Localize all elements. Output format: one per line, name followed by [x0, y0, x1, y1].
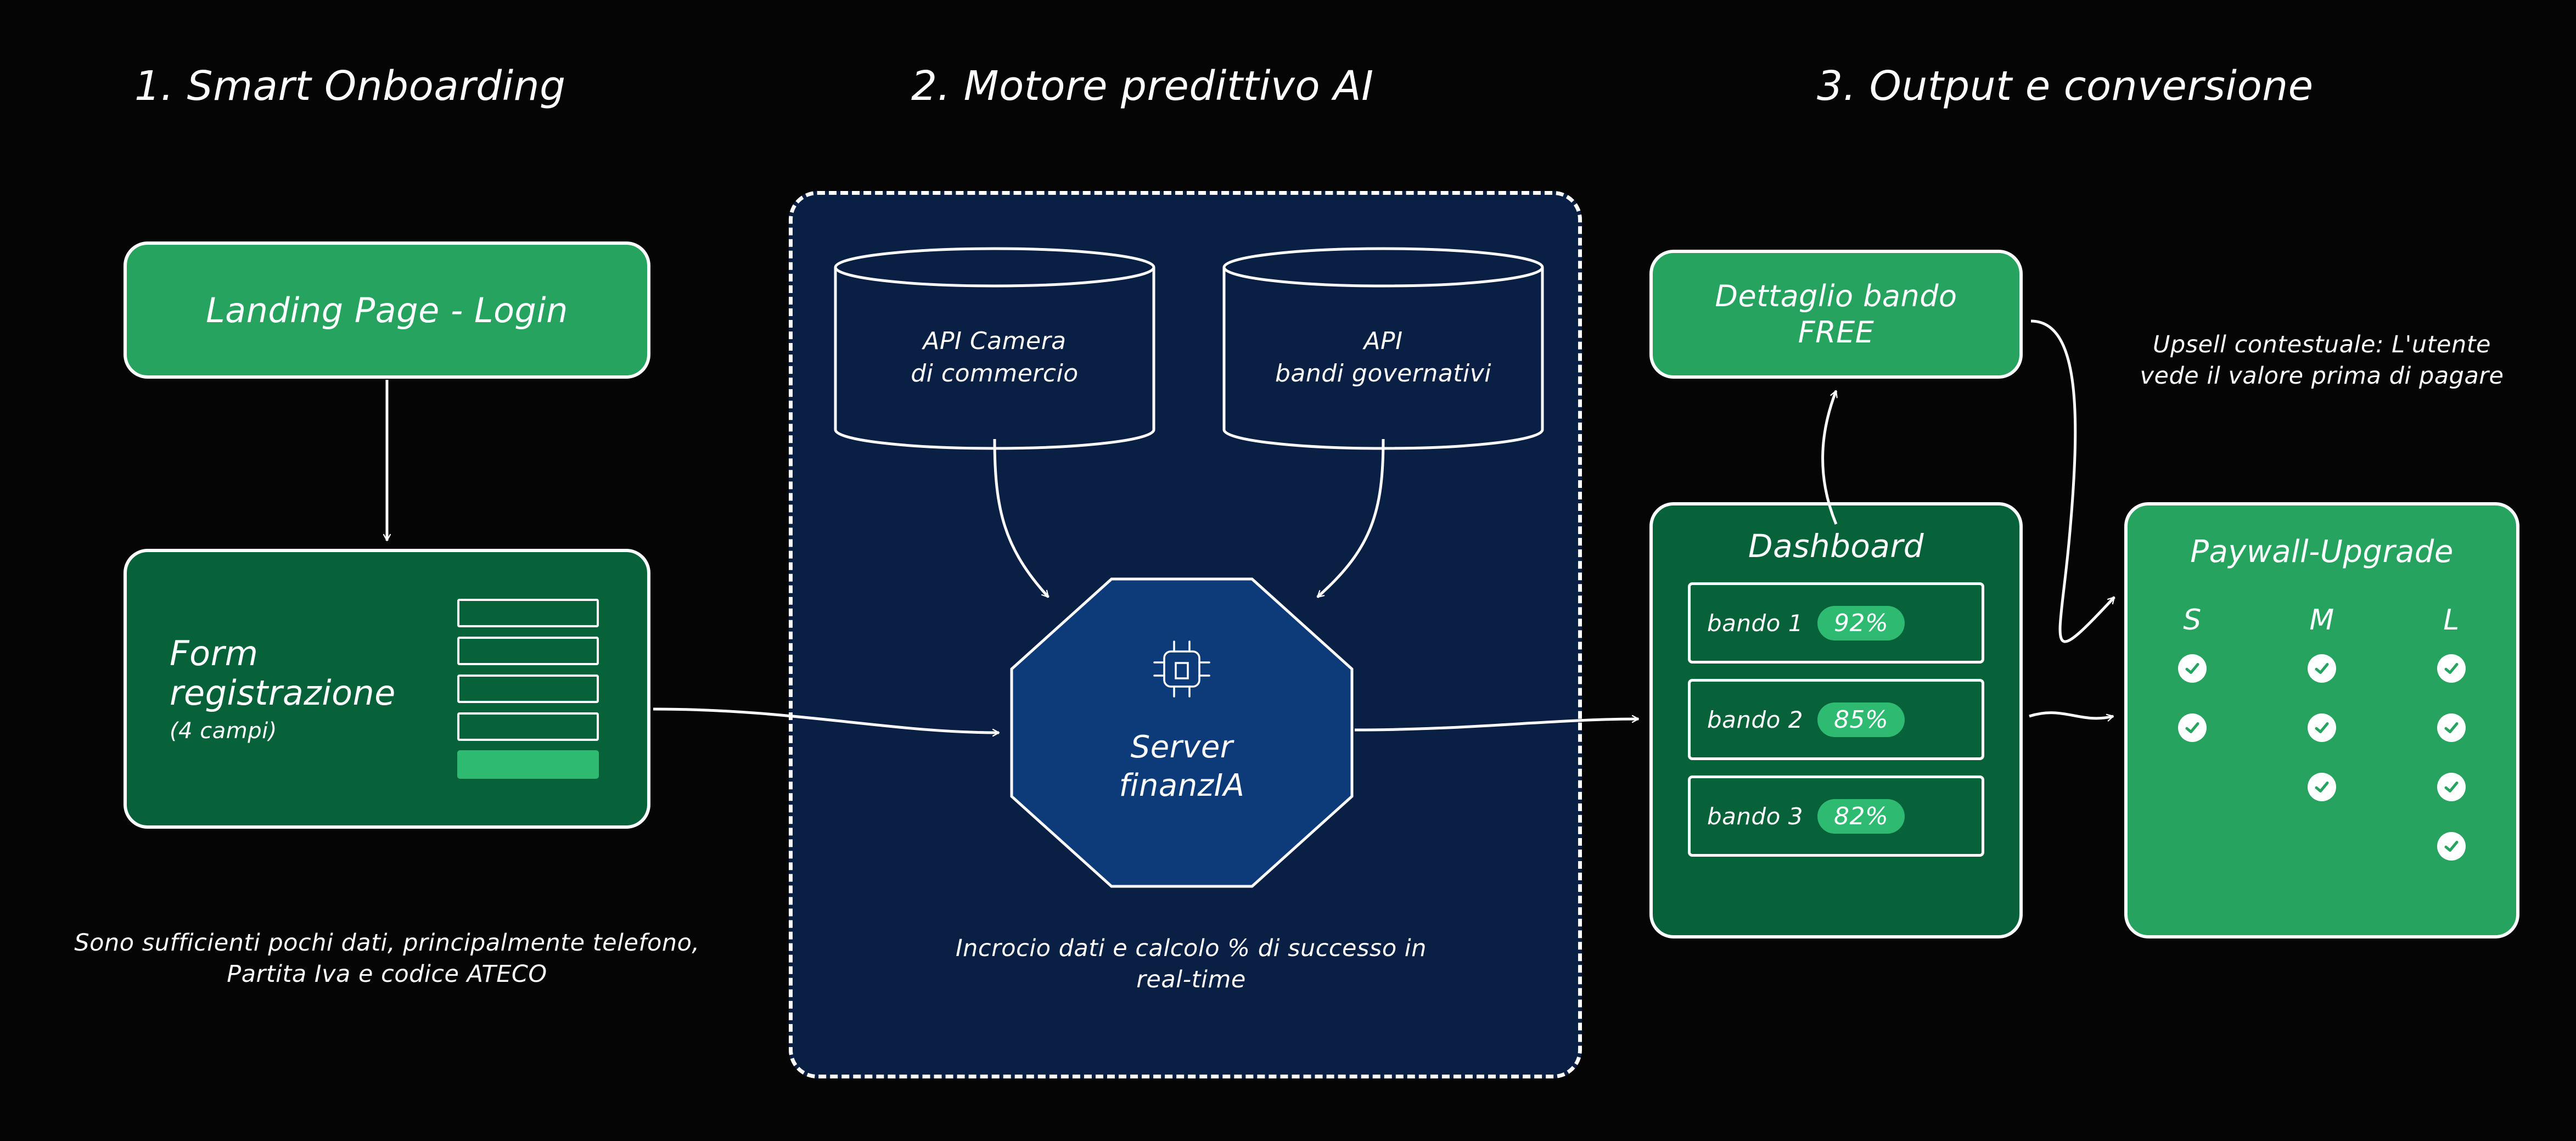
paywall-upgrade-card[interactable]: Paywall-Upgrade S M: [2124, 502, 2519, 938]
heading-step-2: 2. Motore predittivo AI: [911, 66, 1374, 106]
arrow-dashboard-to-paywall: [2029, 713, 2113, 718]
check-circle-icon: [2437, 773, 2466, 801]
form-labels: Form registrazione (4 campi): [170, 634, 455, 744]
form-submit-button[interactable]: [457, 750, 599, 779]
tier-columns: S M L: [2128, 604, 2516, 891]
tier-s[interactable]: S: [2128, 604, 2257, 891]
dettaglio-line2: FREE: [1798, 314, 1875, 351]
diagram-canvas: 1. Smart Onboarding 2. Motore predittivo…: [0, 0, 2576, 1141]
check-circle-icon: [2178, 654, 2207, 683]
tier-label: M: [2309, 604, 2334, 637]
api-bandi-line2: bandi governativi: [1275, 359, 1491, 387]
check-circle-icon: [2308, 773, 2336, 801]
check-circle-icon: [2437, 654, 2466, 683]
table-row[interactable]: bando 1 92%: [1688, 582, 1984, 664]
check-circle-icon: [2437, 832, 2466, 861]
landing-page-label: Landing Page - Login: [206, 290, 568, 330]
caption-upsell: Upsell contestuale: L'utente vede il val…: [2130, 329, 2514, 392]
status-badge: 82%: [1817, 799, 1905, 834]
form-subtitle: (4 campi): [170, 718, 277, 744]
api-bandi-line1: API: [1363, 327, 1402, 355]
registration-form-card[interactable]: Form registrazione (4 campi): [124, 549, 650, 829]
form-title-line1: Form: [170, 634, 258, 673]
api-bandi-governativi-datastore[interactable]: API bandi governativi: [1224, 250, 1542, 447]
form-field-1[interactable]: [457, 599, 599, 627]
form-title-line2: registrazione: [170, 673, 396, 713]
table-row[interactable]: bando 2 85%: [1688, 679, 1984, 760]
tier-l[interactable]: L: [2387, 604, 2516, 891]
check-circle-icon: [2308, 713, 2336, 742]
form-field-4[interactable]: [457, 712, 599, 741]
api-camera-line2: di commercio: [911, 359, 1078, 387]
server-finanzia-node[interactable]: Server finanzIA: [1012, 579, 1352, 886]
dashboard-card[interactable]: Dashboard bando 1 92% bando 2 85% bando …: [1649, 502, 2023, 938]
bando-name: bando 3: [1707, 803, 1803, 830]
tier-label: L: [2443, 604, 2459, 637]
tier-label: S: [2183, 604, 2202, 637]
tier-m[interactable]: M: [2258, 604, 2386, 891]
form-fields: [457, 599, 599, 779]
table-row[interactable]: bando 3 82%: [1688, 775, 1984, 857]
status-badge: 85%: [1817, 702, 1905, 737]
heading-step-1: 1. Smart Onboarding: [134, 66, 566, 106]
server-label-line1: Server: [1131, 729, 1233, 765]
server-label-line2: finanzIA: [1119, 768, 1245, 803]
bando-name: bando 1: [1707, 610, 1803, 637]
landing-page-login-card[interactable]: Landing Page - Login: [124, 241, 650, 379]
status-badge: 92%: [1817, 606, 1905, 640]
paywall-title: Paywall-Upgrade: [2190, 534, 2454, 570]
bando-name: bando 2: [1707, 706, 1803, 733]
server-node-label: Server finanzIA: [1119, 728, 1245, 805]
check-circle-icon: [2178, 713, 2207, 742]
heading-step-3: 3. Output e conversione: [1817, 66, 2314, 106]
check-circle-icon: [2308, 654, 2336, 683]
form-field-2[interactable]: [457, 637, 599, 665]
api-camera-di-commercio-datastore[interactable]: API Camera di commercio: [835, 250, 1154, 447]
arrow-dettaglio-to-paywall: [2031, 321, 2114, 642]
caption-engine: Incrocio dati e calcolo % di successo in…: [950, 933, 1433, 996]
check-circle-icon: [2437, 713, 2466, 742]
dettaglio-line1: Dettaglio bando: [1715, 278, 1957, 314]
dashboard-title: Dashboard: [1748, 527, 1924, 565]
dettaglio-bando-free-card[interactable]: Dettaglio bando FREE: [1649, 250, 2023, 379]
form-field-3[interactable]: [457, 675, 599, 703]
caption-onboarding: Sono sufficienti pochi dati, principalme…: [60, 928, 714, 990]
api-camera-line1: API Camera: [923, 327, 1066, 355]
cpu-chip-icon: [1149, 636, 1215, 704]
